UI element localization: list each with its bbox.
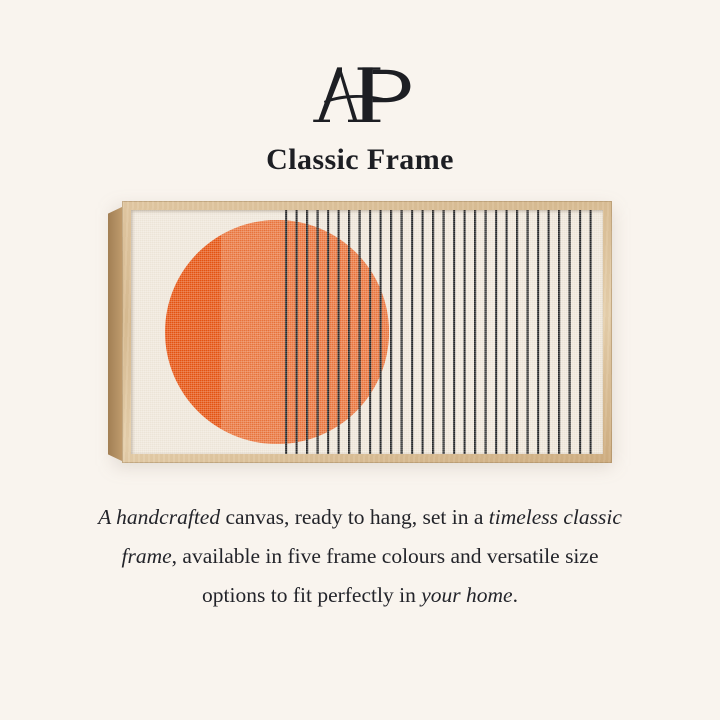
framed-artwork[interactable]	[108, 198, 612, 466]
description-emphasis-1: A handcrafted	[98, 505, 220, 529]
description-text-4-post: .	[513, 583, 518, 607]
frame-moulding	[122, 201, 612, 463]
description-text-2: , available in five frame	[172, 544, 377, 568]
page-title: Classic Frame	[0, 143, 720, 177]
product-description: A handcrafted canvas, ready to hang, set…	[90, 498, 630, 615]
description-text-4-pre: in	[399, 583, 421, 607]
brand-header	[0, 58, 720, 132]
artwork-graphic	[131, 210, 603, 454]
description-emphasis-3: your home	[421, 583, 512, 607]
description-text-1: canvas, ready to hang, set in a	[220, 505, 483, 529]
ap-monogram-logo	[300, 58, 420, 132]
product-card: Classic Frame	[0, 0, 720, 720]
canvas-artwork	[131, 210, 603, 454]
